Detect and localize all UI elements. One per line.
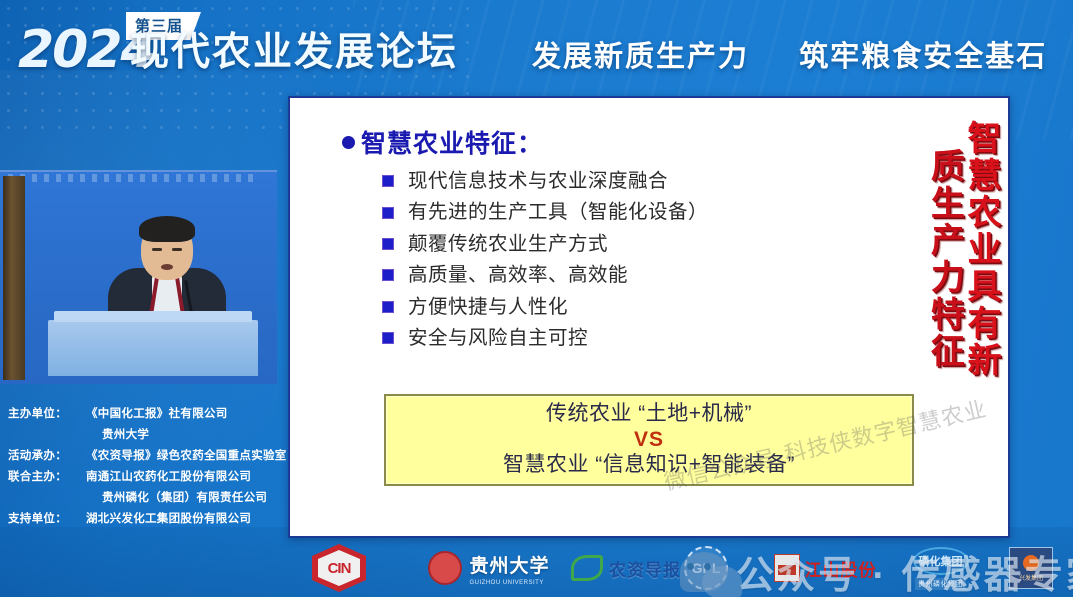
square-bullet-icon <box>382 301 394 313</box>
logo-xingfa: 兴发集团 <box>1000 546 1062 590</box>
bullet-item: 高质量、高效率、高效能 <box>382 264 708 286</box>
sponsor-row: 联合主办： 贵州磷化（集团）有限责任公司 <box>8 488 286 509</box>
logo-xingfa-text: 兴发集团 <box>1019 573 1043 582</box>
sponsor-value: 贵州磷化（集团）有限责任公司 <box>86 488 267 509</box>
screen: 2024 第三届 现代农业发展论坛 发展新质生产力 筑牢粮食安全基石 主办单位：… <box>0 0 1073 597</box>
sponsor-label: 支持单位： <box>8 509 86 530</box>
sponsor-value: 《中国化工报》社有限公司 <box>86 404 228 425</box>
square-bullet-icon <box>382 175 394 187</box>
square-bullet-icon <box>382 207 394 219</box>
sponsor-row: 活动承办： 《农资导报》绿色农药全国重点实验室 <box>8 446 286 467</box>
logo-gpl: GPL <box>676 546 736 590</box>
logo-gpl-text: GPL <box>684 546 728 590</box>
vertical-headline: 质生产力特征 智慧农业具有新 <box>927 120 998 379</box>
sponsor-row: 支持单位： 湖北兴发化工集团股份有限公司 <box>8 509 286 530</box>
logo-nongzi-daobao: 农资导报 <box>556 546 696 590</box>
bullet-text: 高质量、高效率、高效能 <box>408 264 628 286</box>
university-seal-icon <box>428 551 462 585</box>
bullet-text: 有先进的生产工具（智能化设备） <box>408 201 708 223</box>
xingfa-mark-icon: 兴发集团 <box>1009 547 1053 589</box>
bullet-item: 方便快捷与人性化 <box>382 296 708 318</box>
podium <box>48 320 258 376</box>
sponsor-row: 主办单位： 贵州大学 <box>8 425 286 446</box>
vertical-headline-right: 智慧农业具有新 <box>963 120 998 379</box>
jiangshan-mark: 江山股份 <box>774 554 877 582</box>
square-bullet-icon <box>382 332 394 344</box>
sponsor-row: 联合主办： 南通江山农药化工股份有限公司 <box>8 467 286 488</box>
comparison-line-smart: 智慧农业 “信息知识+智能装备” <box>503 453 795 478</box>
bullet-text: 方便快捷与人性化 <box>408 296 568 318</box>
logo-guizhou-linhua-subtext: 贵州磷化集团 <box>915 578 966 590</box>
sponsor-row: 主办单位： 《中国化工报》社有限公司 <box>8 404 286 425</box>
bullet-text: 安全与风险自主可控 <box>408 327 588 349</box>
logo-guizhou-linhua-text: 磷化集团 <box>913 547 969 575</box>
comparison-line-traditional: 传统农业 “土地+机械” <box>546 402 752 427</box>
logo-cin: CIN <box>305 546 373 590</box>
bullet-item: 有先进的生产工具（智能化设备） <box>382 201 708 223</box>
bullet-item: 安全与风险自主可控 <box>382 327 708 349</box>
bullet-text: 现代信息技术与农业深度融合 <box>408 170 668 192</box>
logo-guizhou-linhua: 磷化集团 贵州磷化集团 <box>888 546 993 590</box>
sun-icon <box>1023 555 1039 571</box>
square-bullet-icon <box>382 238 394 250</box>
logo-nongzi-daobao-text: 农资导报 <box>609 556 681 581</box>
video-backdrop-text <box>8 174 258 182</box>
circle-bullet-icon <box>342 136 355 149</box>
logo-jiangshan: 江山股份 <box>765 546 885 590</box>
bullet-item: 颠覆传统农业生产方式 <box>382 233 708 255</box>
speaker-eye-right <box>172 248 182 251</box>
vertical-headline-left: 质生产力特征 <box>927 148 962 379</box>
speaker-mouth <box>161 264 173 270</box>
sponsor-value: 南通江山农药化工股份有限公司 <box>86 467 251 488</box>
slide-title-text: 智慧农业特征： <box>361 124 543 160</box>
square-bullet-icon <box>382 269 394 281</box>
forum-title: 现代农业发展论坛 <box>130 33 458 72</box>
comparison-vs-label: VS <box>634 428 664 452</box>
speaker-eye-left <box>152 248 162 251</box>
logo-guizhou-university-text: 贵州大学 <box>469 551 549 578</box>
sponsor-label: 活动承办： <box>8 446 86 467</box>
event-slogan: 发展新质生产力 筑牢粮食安全基石 <box>532 42 1047 71</box>
slide-title: 智慧农业特征： <box>342 124 543 160</box>
sponsor-label: 主办单位： <box>8 404 86 425</box>
logo-guizhou-university: 贵州大学 GUIZHOU UNIVERSITY <box>404 546 574 590</box>
presentation-slide[interactable]: 智慧农业特征： 现代信息技术与农业深度融合 有先进的生产工具（智能化设备） 颠覆… <box>288 96 1010 538</box>
sponsor-value: 湖北兴发化工集团股份有限公司 <box>86 509 251 530</box>
slogan-left: 发展新质生产力 <box>532 39 749 73</box>
bullet-text: 颠覆传统农业生产方式 <box>408 233 608 255</box>
logo-jiangshan-text: 江山股份 <box>805 556 877 581</box>
speaker-video[interactable] <box>0 170 277 384</box>
logo-guizhou-university-subtext: GUIZHOU UNIVERSITY <box>469 580 549 586</box>
slide-bullet-list: 现代信息技术与农业深度融合 有先进的生产工具（智能化设备） 颠覆传统农业生产方式… <box>382 170 708 359</box>
bullet-item: 现代信息技术与农业深度融合 <box>382 170 708 192</box>
speaker-hair <box>139 216 195 242</box>
video-curtain <box>3 176 25 380</box>
sponsor-value: 贵州大学 <box>86 425 149 446</box>
leaf-icon <box>571 555 603 581</box>
comparison-box: 传统农业 “土地+机械” VS 智慧农业 “信息知识+智能装备” <box>384 394 914 486</box>
jiangshan-icon <box>774 554 800 582</box>
sponsor-list: 主办单位： 《中国化工报》社有限公司 主办单位： 贵州大学 活动承办： 《农资导… <box>8 404 286 530</box>
event-header: 2024 第三届 现代农业发展论坛 发展新质生产力 筑牢粮食安全基石 <box>0 0 1073 92</box>
sponsor-value: 《农资导报》绿色农药全国重点实验室 <box>86 446 287 467</box>
logo-cin-text: CIN <box>318 550 360 586</box>
slogan-right: 筑牢粮食安全基石 <box>799 39 1047 73</box>
cin-hexagon-icon: CIN <box>312 544 366 592</box>
sponsor-logo-bar: CIN 贵州大学 GUIZHOU UNIVERSITY 农资导报 GPL 江山股… <box>0 540 1073 597</box>
sponsor-label: 联合主办： <box>8 467 86 488</box>
